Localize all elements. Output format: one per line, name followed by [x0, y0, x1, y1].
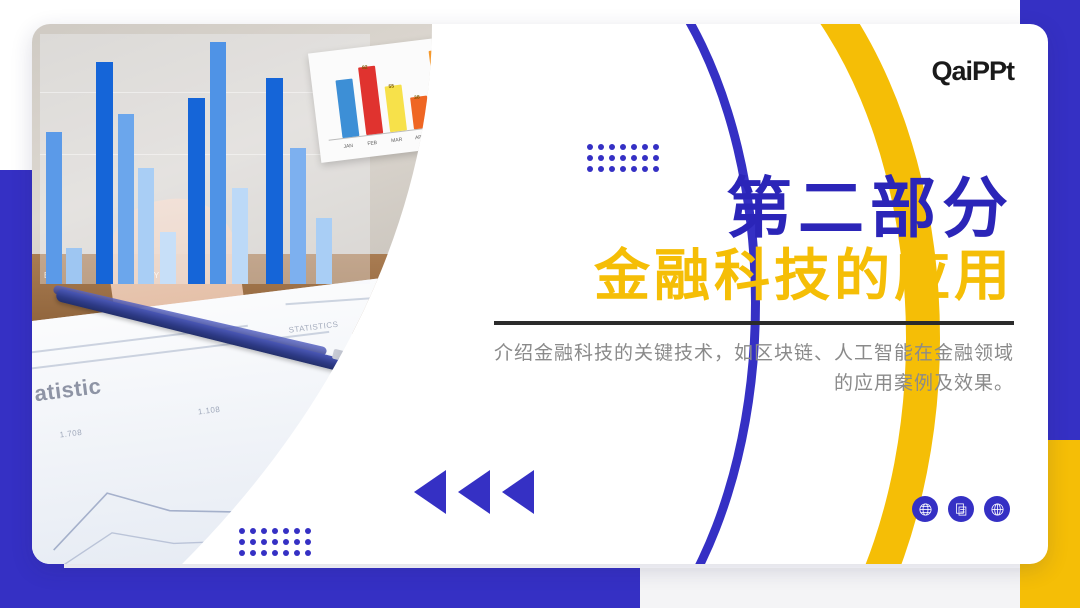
slide-card: STATISTICS KWH WDH atistic 1.708 1.108 1…	[32, 24, 1048, 564]
triangle-decoration	[414, 470, 534, 514]
mini-icon-row	[912, 496, 1010, 522]
description-text: 介绍金融科技的关键技术，如区块链、人工智能在金融领域的应用案例及效果。	[494, 339, 1014, 400]
aippt-logo: QaiPPt	[931, 58, 1014, 85]
photo-color-bar-chart: 82 55 38 JAN FEB MAR APR MAY	[308, 31, 505, 163]
dot-grid	[587, 144, 664, 177]
left-triangle-icon	[458, 470, 490, 514]
left-triangle-icon	[502, 470, 534, 514]
globe-network-icon[interactable]	[912, 496, 938, 522]
left-triangle-icon	[414, 470, 446, 514]
title-block: 第二部分 金融科技的应用 介绍金融科技的关键技术，如区块链、人工智能在金融领域的…	[494, 174, 1014, 399]
logo-text: QaiPPt	[931, 58, 1014, 85]
presentation-slide: STATISTICS KWH WDH atistic 1.708 1.108 1…	[0, 0, 1080, 608]
globe-grid-icon[interactable]	[984, 496, 1010, 522]
title-divider	[494, 321, 1014, 325]
document-report-icon[interactable]	[948, 496, 974, 522]
photo-pen-nib	[332, 349, 402, 376]
page-subtitle: 金融科技的应用	[494, 246, 1014, 309]
dot-grid	[239, 528, 316, 561]
page-title: 第二部分	[494, 174, 1014, 244]
bottom-blue-block	[0, 568, 640, 608]
bottom-grey-block	[640, 568, 1020, 608]
